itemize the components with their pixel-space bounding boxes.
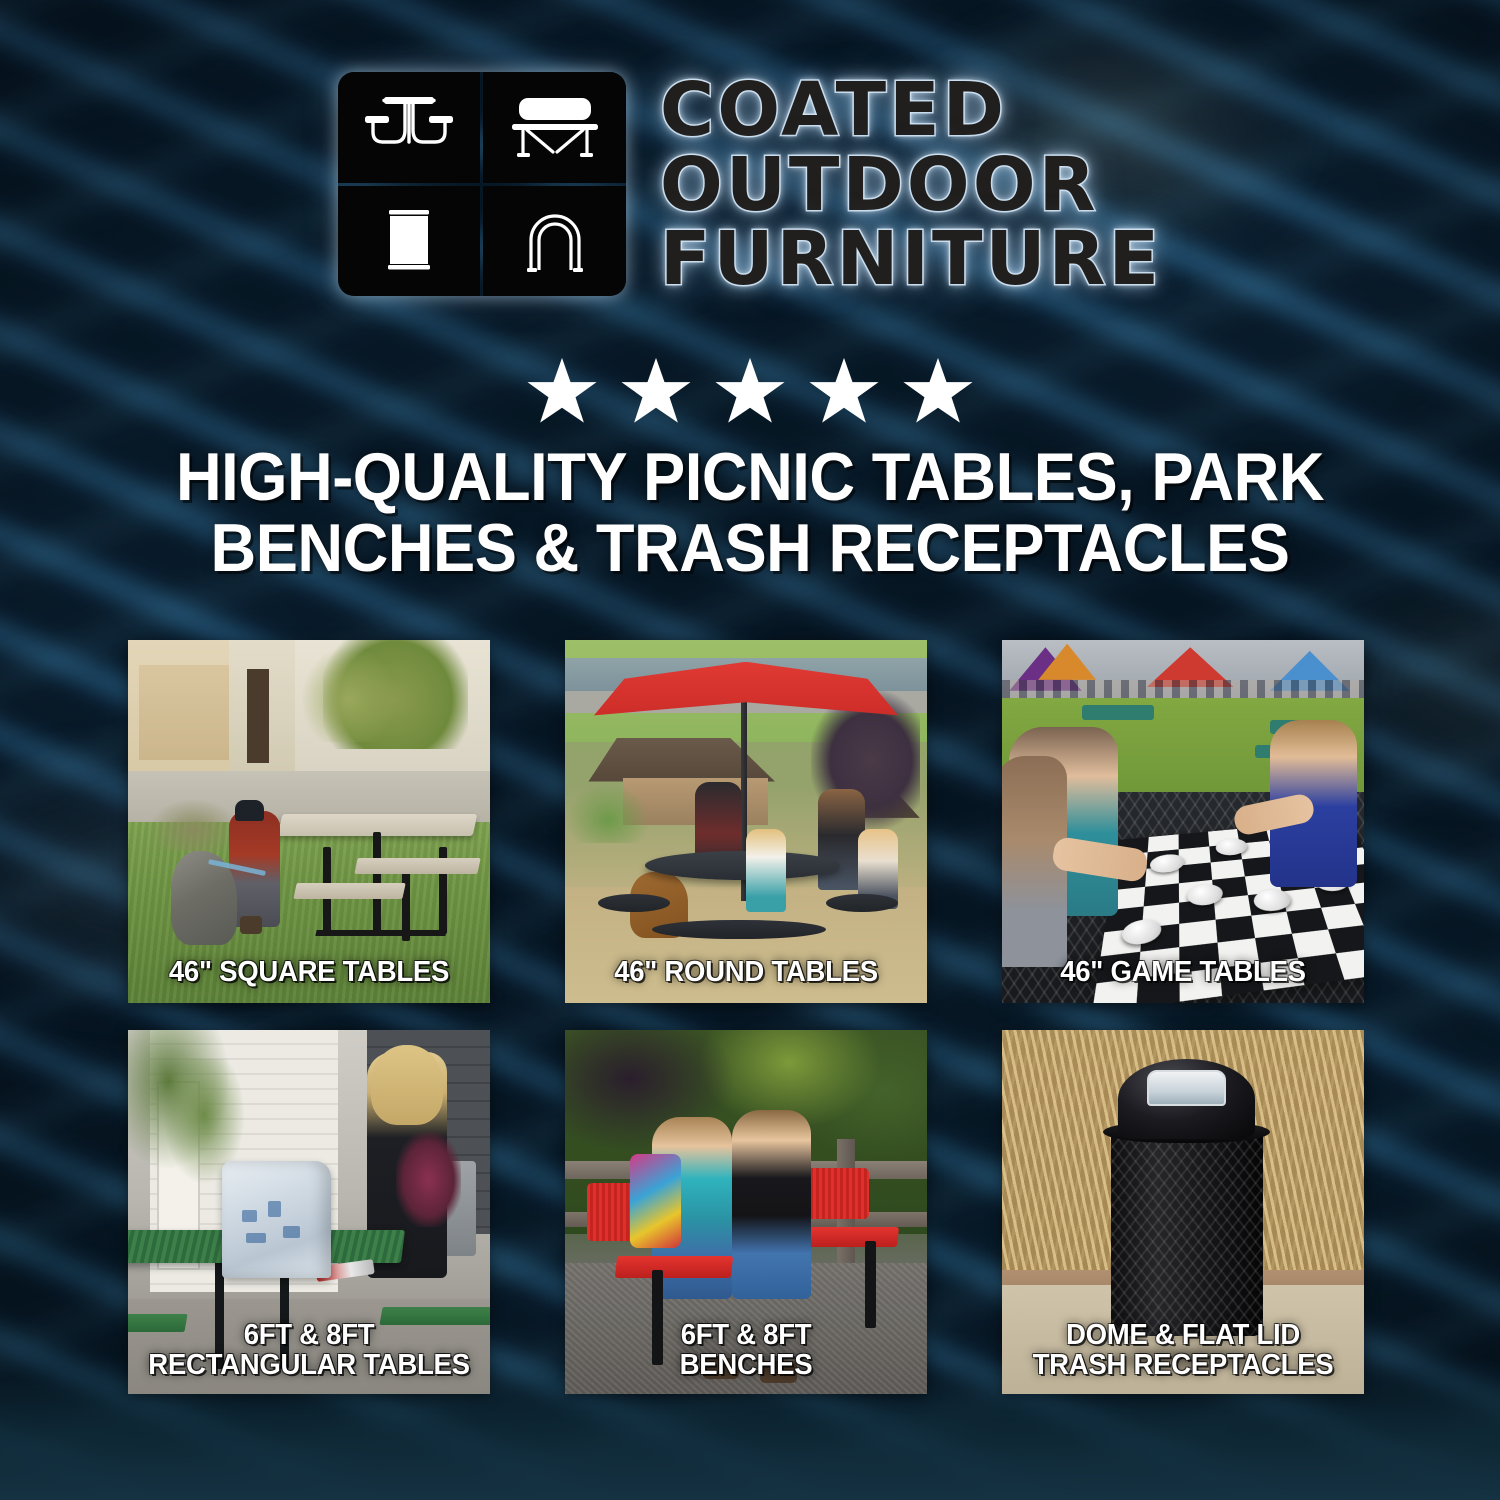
- poster-root: COATED OUTDOOR FURNITURE: [0, 0, 1500, 1500]
- caption-line-1: 46" ROUND TABLES: [580, 957, 913, 987]
- poster-content: COATED OUTDOOR FURNITURE: [0, 0, 1500, 1500]
- brand-line-2: OUTDOOR: [660, 149, 1162, 222]
- logo-cell-trash-receptacle: [338, 186, 481, 297]
- product-tile-square-tables[interactable]: 46" SQUARE TABLES: [128, 640, 490, 1003]
- product-photo-round-tables: [565, 640, 927, 1003]
- logo-cell-bike-rack: [483, 186, 626, 297]
- product-tile-game-tables[interactable]: 46" GAME TABLES: [1002, 640, 1364, 1003]
- product-tile-rectangular-tables[interactable]: 6FT & 8FT RECTANGULAR TABLES: [128, 1030, 490, 1394]
- trash-receptacle-icon: [361, 204, 457, 278]
- product-caption-trash-receptacles: DOME & FLAT LID TRASH RECEPTACLES: [1017, 1320, 1350, 1380]
- brand-line-3: FURNITURE: [660, 223, 1162, 296]
- caption-line-2: BENCHES: [580, 1350, 913, 1380]
- caption-line-2: RECTANGULAR TABLES: [143, 1350, 476, 1380]
- product-grid: 46" SQUARE TABLES 46" ROUND TABLE: [128, 640, 1373, 1394]
- product-photo-square-tables: [128, 640, 490, 1003]
- brand-wordmark: COATED OUTDOOR FURNITURE: [660, 72, 1162, 296]
- caption-line-1: 46" SQUARE TABLES: [143, 957, 476, 987]
- star-icon-3: [714, 356, 786, 426]
- brand-line-1: COATED: [660, 74, 1162, 147]
- caption-line-1: 46" GAME TABLES: [1017, 957, 1350, 987]
- product-photo-game-tables: [1002, 640, 1364, 1003]
- product-tile-benches[interactable]: 6FT & 8FT BENCHES: [565, 1030, 927, 1394]
- product-caption-rectangular-tables: 6FT & 8FT RECTANGULAR TABLES: [143, 1320, 476, 1380]
- product-caption-round-tables: 46" ROUND TABLES: [580, 957, 913, 987]
- bike-rack-icon: [507, 204, 603, 278]
- caption-line-2: TRASH RECEPTACLES: [1017, 1350, 1350, 1380]
- caption-line-1: 6FT & 8FT: [143, 1320, 476, 1350]
- star-rating: [0, 356, 1500, 426]
- star-icon-4: [808, 356, 880, 426]
- bench-icon: [507, 90, 603, 164]
- logo-icon-grid: [338, 72, 626, 296]
- picnic-table-icon: [361, 90, 457, 164]
- headline-line-2: BENCHES & TRASH RECEPTACLES: [118, 513, 1383, 584]
- star-icon-1: [526, 356, 598, 426]
- star-icon-5: [902, 356, 974, 426]
- product-caption-square-tables: 46" SQUARE TABLES: [143, 957, 476, 987]
- product-tile-trash-receptacles[interactable]: DOME & FLAT LID TRASH RECEPTACLES: [1002, 1030, 1364, 1394]
- product-caption-game-tables: 46" GAME TABLES: [1017, 957, 1350, 987]
- star-icon-2: [620, 356, 692, 426]
- caption-line-1: DOME & FLAT LID: [1017, 1320, 1350, 1350]
- page-title: HIGH-QUALITY PICNIC TABLES, PARK BENCHES…: [118, 442, 1383, 583]
- caption-line-1: 6FT & 8FT: [580, 1320, 913, 1350]
- brand-logo: COATED OUTDOOR FURNITURE: [0, 72, 1500, 296]
- product-caption-benches: 6FT & 8FT BENCHES: [580, 1320, 913, 1380]
- logo-cell-picnic-table: [338, 72, 481, 183]
- product-tile-round-tables[interactable]: 46" ROUND TABLES: [565, 640, 927, 1003]
- logo-cell-bench: [483, 72, 626, 183]
- headline-line-1: HIGH-QUALITY PICNIC TABLES, PARK: [118, 442, 1383, 513]
